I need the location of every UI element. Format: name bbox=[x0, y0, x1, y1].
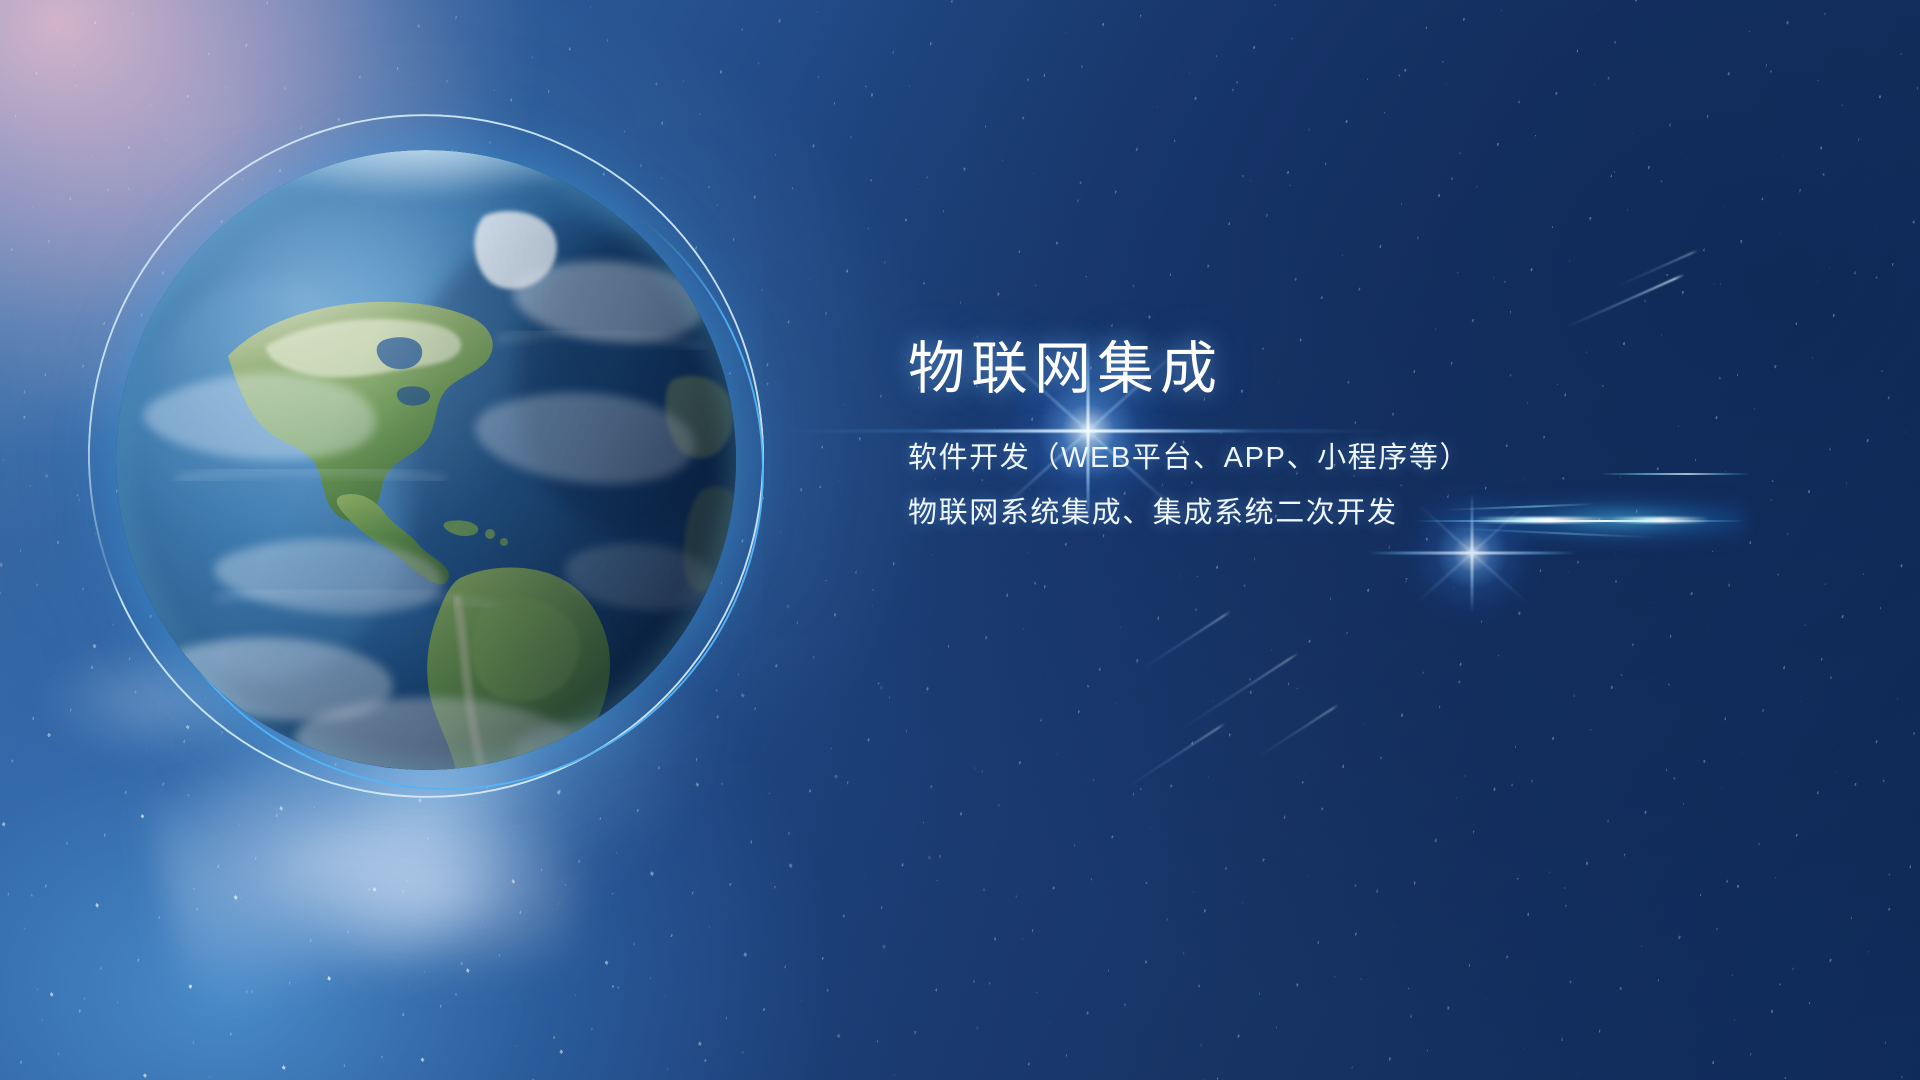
banner-subtitle-1: 软件开发（WEB平台、APP、小程序等） bbox=[908, 444, 1528, 473]
comet-streak-icon bbox=[1614, 249, 1699, 288]
cloud-wisp bbox=[240, 788, 590, 1002]
comet-streak-icon bbox=[1181, 652, 1300, 730]
comet-streak-icon bbox=[1565, 274, 1685, 329]
streak-thin-line bbox=[1600, 473, 1750, 475]
hero-banner: 物联网集成 软件开发（WEB平台、APP、小程序等） 物联网系统集成、集成系统二… bbox=[0, 0, 1920, 1080]
banner-subtitle-2: 物联网系统集成、集成系统二次开发 bbox=[908, 499, 1528, 528]
comet-streak-icon bbox=[1257, 704, 1339, 758]
banner-title: 物联网集成 bbox=[908, 340, 1528, 400]
comet-streak-icon bbox=[1124, 722, 1226, 789]
globe-rim-light bbox=[116, 150, 736, 770]
earth-globe bbox=[116, 150, 736, 770]
streak-hotspot bbox=[1605, 517, 1710, 523]
flare-ray-horizontal bbox=[1367, 552, 1577, 555]
banner-text-block: 物联网集成 软件开发（WEB平台、APP、小程序等） 物联网系统集成、集成系统二… bbox=[908, 340, 1528, 528]
comet-streak-icon bbox=[1138, 610, 1231, 672]
globe-sphere bbox=[116, 150, 736, 770]
light-streak-small-icon bbox=[1600, 462, 1750, 484]
streak-ray bbox=[1455, 527, 1655, 538]
